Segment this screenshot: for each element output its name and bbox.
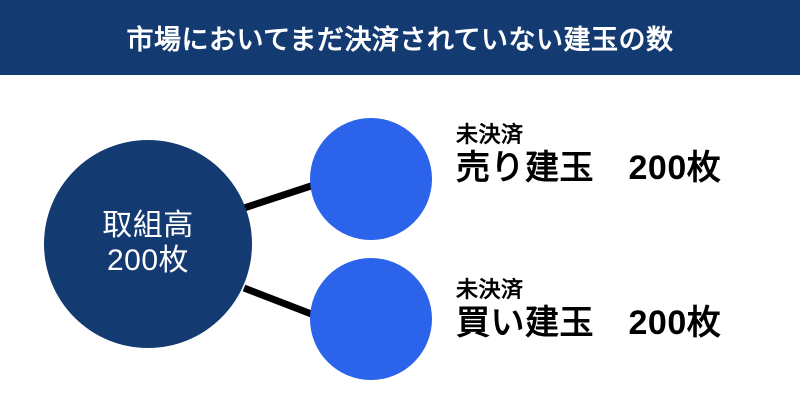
page-title: 市場においてまだ決済されていない建玉の数 bbox=[0, 0, 800, 75]
node-unsettled-buy-circle bbox=[310, 258, 432, 380]
label-unsettled-buy-sub: 未決済 bbox=[456, 278, 721, 303]
node-open-interest: 取組高 200枚 bbox=[44, 140, 252, 348]
connector-to-buy bbox=[244, 288, 314, 315]
connector-to-sell bbox=[244, 185, 314, 208]
label-unsettled-sell-main: 売り建玉 200枚 bbox=[456, 150, 721, 187]
node-unsettled-sell-circle bbox=[310, 118, 432, 240]
node-open-interest-line1: 取組高 bbox=[102, 209, 194, 244]
label-unsettled-sell-sub: 未決済 bbox=[456, 123, 721, 148]
label-unsettled-buy-main: 買い建玉 200枚 bbox=[456, 305, 721, 342]
infographic-canvas: 市場においてまだ決済されていない建玉の数 取組高 200枚 未決済 売り建玉 2… bbox=[0, 0, 800, 400]
label-unsettled-sell: 未決済 売り建玉 200枚 bbox=[456, 123, 721, 187]
node-open-interest-line2: 200枚 bbox=[107, 244, 189, 279]
label-unsettled-buy: 未決済 買い建玉 200枚 bbox=[456, 278, 721, 342]
diagram-area: 取組高 200枚 未決済 売り建玉 200枚 未決済 買い建玉 200枚 bbox=[0, 75, 800, 400]
